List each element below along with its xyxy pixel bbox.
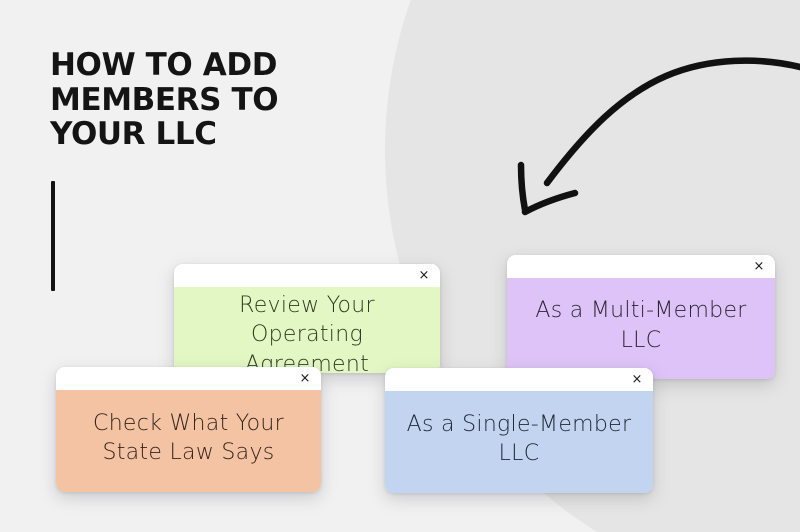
card-titlebar: × <box>174 264 440 287</box>
card-label: Check What Your State Law Says <box>56 390 321 492</box>
card-label: Review Your Operating Agreement <box>174 287 440 373</box>
close-icon[interactable]: × <box>417 269 431 283</box>
card-review-operating-agreement[interactable]: × Review Your Operating Agreement <box>174 264 440 373</box>
card-check-state-law[interactable]: × Check What Your State Law Says <box>56 367 321 492</box>
card-titlebar: × <box>56 367 321 390</box>
card-titlebar: × <box>507 255 775 278</box>
card-label: As a Multi-Member LLC <box>507 278 775 379</box>
title-accent-bar <box>51 181 55 291</box>
close-icon[interactable]: × <box>298 372 312 386</box>
card-single-member-llc[interactable]: × As a Single-Member LLC <box>385 368 653 493</box>
card-label: As a Single-Member LLC <box>385 391 653 493</box>
card-multi-member-llc[interactable]: × As a Multi-Member LLC <box>507 255 775 379</box>
close-icon[interactable]: × <box>752 260 766 274</box>
card-titlebar: × <box>385 368 653 391</box>
page-title: HOW TO ADD MEMBERS TO YOUR LLC <box>50 48 390 152</box>
close-icon[interactable]: × <box>630 373 644 387</box>
infographic-canvas: HOW TO ADD MEMBERS TO YOUR LLC × Review … <box>0 0 800 532</box>
